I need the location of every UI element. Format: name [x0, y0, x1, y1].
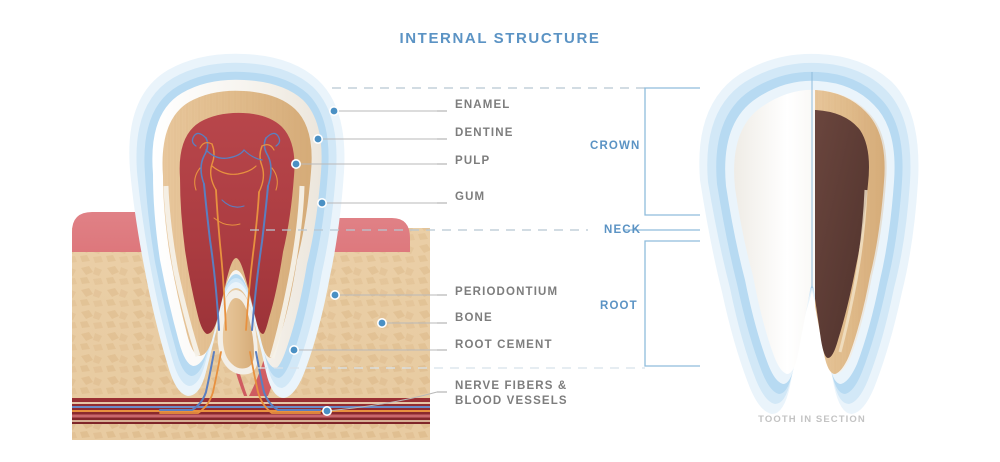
marker-gum — [317, 198, 327, 208]
callout-markers — [289, 106, 387, 416]
callout-label-dentine: DENTINE — [455, 126, 514, 141]
tooth-in-section-caption: TOOTH IN SECTION — [742, 414, 882, 425]
leader-dashes — [437, 111, 447, 392]
region-label-crown: CROWN — [590, 140, 640, 152]
region-label-root: ROOT — [600, 300, 638, 312]
callout-label-pulp: PULP — [455, 154, 490, 169]
callout-label-bone: BONE — [455, 311, 493, 326]
leader-nerve-vessels — [327, 392, 437, 411]
callout-label-root-cement: ROOT CEMENT — [455, 338, 553, 353]
root-bracket — [645, 241, 700, 366]
marker-bone — [377, 318, 387, 328]
marker-pulp — [291, 159, 301, 169]
callout-label-gum: GUM — [455, 190, 485, 205]
marker-enamel — [329, 106, 339, 116]
leader-lines — [294, 111, 437, 411]
marker-root-cement — [289, 345, 299, 355]
region-label-neck: NECK — [604, 224, 641, 236]
marker-periodontium — [330, 290, 340, 300]
nerve-vessels-line2: BLOOD VESSELS — [455, 394, 568, 409]
marker-nerve-vessels — [322, 406, 332, 416]
callout-label-nerve-vessels: NERVE FIBERS & BLOOD VESSELS — [455, 379, 568, 409]
page-title: INTERNAL STRUCTURE — [0, 30, 1000, 47]
diagram-canvas: INTERNAL STRUCTURE ENAMEL DENTINE PULP G… — [0, 0, 1000, 462]
callout-label-enamel: ENAMEL — [455, 98, 510, 113]
crown-bracket — [645, 88, 700, 215]
nerve-vessels-line1: NERVE FIBERS & — [455, 379, 568, 394]
callout-label-periodontium: PERIODONTIUM — [455, 285, 558, 300]
marker-dentine — [313, 134, 323, 144]
